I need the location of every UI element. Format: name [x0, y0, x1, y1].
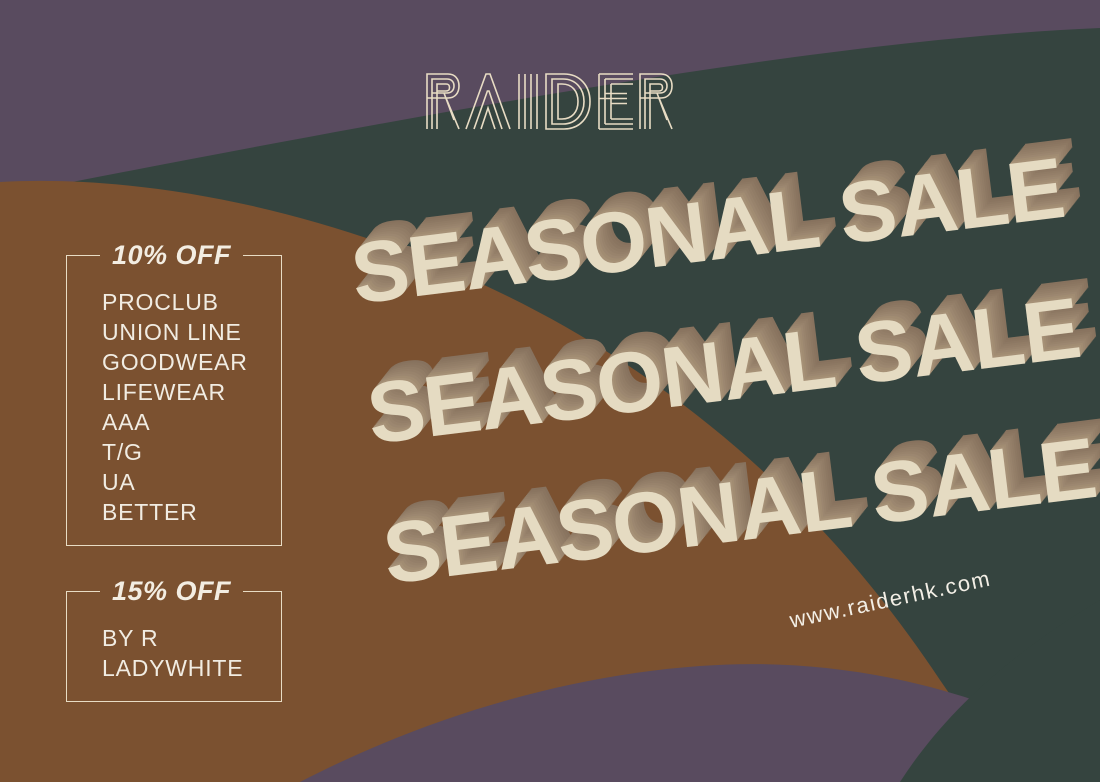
brand-item: BY R	[102, 623, 274, 653]
raider-logotype-icon	[424, 70, 676, 132]
offer-box-10-percent: 10% OFF PROCLUB UNION LINE GOODWEAR LIFE…	[66, 255, 282, 546]
brand-logo	[424, 70, 676, 132]
offer-box-15-percent: 15% OFF BY R LADYWHITE	[66, 591, 282, 702]
brand-item: LADYWHITE	[102, 653, 274, 683]
seasonal-sale-poster: 10% OFF PROCLUB UNION LINE GOODWEAR LIFE…	[0, 0, 1100, 782]
brand-item: BETTER	[102, 497, 274, 527]
brand-item: PROCLUB	[102, 287, 274, 317]
brand-item: UNION LINE	[102, 317, 274, 347]
brand-item: UA	[102, 467, 274, 497]
offer-brand-list-10-percent: PROCLUB UNION LINE GOODWEAR LIFEWEAR AAA…	[102, 287, 274, 527]
brand-item: GOODWEAR	[102, 347, 274, 377]
brand-item: LIFEWEAR	[102, 377, 274, 407]
brand-item: AAA	[102, 407, 274, 437]
offer-title-15-percent: 15% OFF	[100, 575, 243, 607]
brand-item: T/G	[102, 437, 274, 467]
offer-brand-list-15-percent: BY R LADYWHITE	[102, 623, 274, 683]
offer-title-10-percent: 10% OFF	[100, 239, 243, 271]
